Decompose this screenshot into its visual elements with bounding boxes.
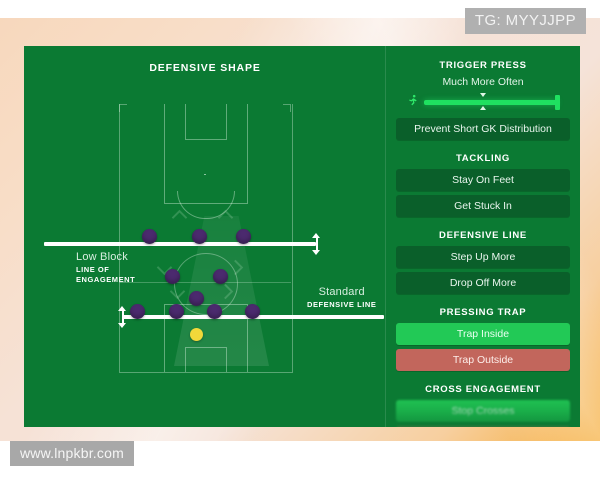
section-trigger-press: TRIGGER PRESSMuch More OftenPrevent Shor… bbox=[386, 60, 580, 140]
option-stop-crosses[interactable]: Stop Crosses bbox=[396, 400, 570, 422]
six-yard-box-top bbox=[185, 104, 227, 140]
section-heading-pressing-trap: PRESSING TRAP bbox=[396, 307, 570, 318]
corner-arc-top-right bbox=[283, 104, 291, 112]
section-heading-cross-engagement: CROSS ENGAGEMENT bbox=[396, 384, 570, 395]
option-step-up-more[interactable]: Step Up More bbox=[396, 246, 570, 268]
player-token-pivot-left[interactable] bbox=[165, 269, 180, 284]
slider-end-cap bbox=[555, 95, 560, 110]
corner-arc-top-left bbox=[119, 104, 127, 112]
option-drop-off-more[interactable]: Drop Off More bbox=[396, 272, 570, 294]
section-tackling: TACKLINGStay On FeetGet Stuck In bbox=[386, 153, 580, 217]
player-token-midfield-left[interactable] bbox=[142, 229, 157, 244]
player-token-defender-3[interactable] bbox=[207, 304, 222, 319]
options-panel: TRIGGER PRESSMuch More OftenPrevent Shor… bbox=[386, 46, 580, 427]
defensive-line-label: Standard DEFENSIVE LINE bbox=[307, 286, 376, 309]
option-prevent-short-gk-distribution[interactable]: Prevent Short GK Distribution bbox=[396, 118, 570, 140]
option-get-stuck-in[interactable]: Get Stuck In bbox=[396, 195, 570, 217]
screenshot-root: DEFENSIVE SHAPE bbox=[0, 0, 600, 480]
line-of-engagement-value: Low Block bbox=[76, 251, 135, 263]
ball-token[interactable] bbox=[190, 328, 203, 341]
player-token-pivot-right[interactable] bbox=[213, 269, 228, 284]
line-of-engagement-caption-2: ENGAGEMENT bbox=[76, 275, 135, 284]
section-heading-defensive-line: DEFENSIVE LINE bbox=[396, 230, 570, 241]
slider-track[interactable] bbox=[424, 100, 558, 105]
defensive-line-drag-handle[interactable] bbox=[118, 306, 127, 328]
section-defensive-line: DEFENSIVE LINEStep Up MoreDrop Off More bbox=[386, 230, 580, 294]
option-trap-inside[interactable]: Trap Inside bbox=[396, 323, 570, 345]
slider-marker-top bbox=[480, 93, 486, 97]
defensive-line-caption: DEFENSIVE LINE bbox=[307, 300, 376, 309]
trigger-press-slider[interactable] bbox=[406, 92, 560, 112]
player-token-defender-2[interactable] bbox=[169, 304, 184, 319]
options-sections: TRIGGER PRESSMuch More OftenPrevent Shor… bbox=[386, 46, 580, 427]
player-token-midfield-centre[interactable] bbox=[192, 229, 207, 244]
slider-marker-bottom bbox=[480, 106, 486, 110]
option-stay-on-feet[interactable]: Stay On Feet bbox=[396, 169, 570, 191]
section-pressing-trap: PRESSING TRAPTrap InsideTrap Outside bbox=[386, 307, 580, 371]
trigger-press-value: Much More Often bbox=[396, 76, 570, 88]
tactics-card: DEFENSIVE SHAPE bbox=[24, 46, 580, 427]
player-token-defender-1[interactable] bbox=[130, 304, 145, 319]
player-token-defender-4[interactable] bbox=[245, 304, 260, 319]
line-of-engagement-drag-handle[interactable] bbox=[312, 233, 321, 255]
page-title: DEFENSIVE SHAPE bbox=[24, 62, 386, 74]
section-heading-tackling: TACKLING bbox=[396, 153, 570, 164]
section-heading-trigger-press: TRIGGER PRESS bbox=[396, 60, 570, 71]
site-watermark-badge: www.lnpkbr.com bbox=[10, 441, 134, 466]
running-person-icon bbox=[406, 93, 420, 109]
pitch-panel: DEFENSIVE SHAPE bbox=[24, 46, 386, 427]
defensive-line-value: Standard bbox=[307, 286, 376, 298]
six-yard-box-bottom bbox=[185, 347, 227, 372]
line-of-engagement-caption-1: LINE OF bbox=[76, 265, 109, 274]
line-of-engagement-label: Low Block LINE OF ENGAGEMENT bbox=[76, 251, 135, 285]
player-token-midfield-right[interactable] bbox=[236, 229, 251, 244]
option-stay-on-feet[interactable]: Stay On Feet bbox=[396, 426, 570, 427]
tg-watermark-badge: TG: MYYJJPP bbox=[465, 8, 586, 34]
section-cross-engagement: CROSS ENGAGEMENTStop CrossesStay On Feet bbox=[386, 384, 580, 427]
line-of-engagement-marker[interactable] bbox=[44, 242, 316, 246]
player-token-holder[interactable] bbox=[189, 291, 204, 306]
option-trap-outside[interactable]: Trap Outside bbox=[396, 349, 570, 371]
